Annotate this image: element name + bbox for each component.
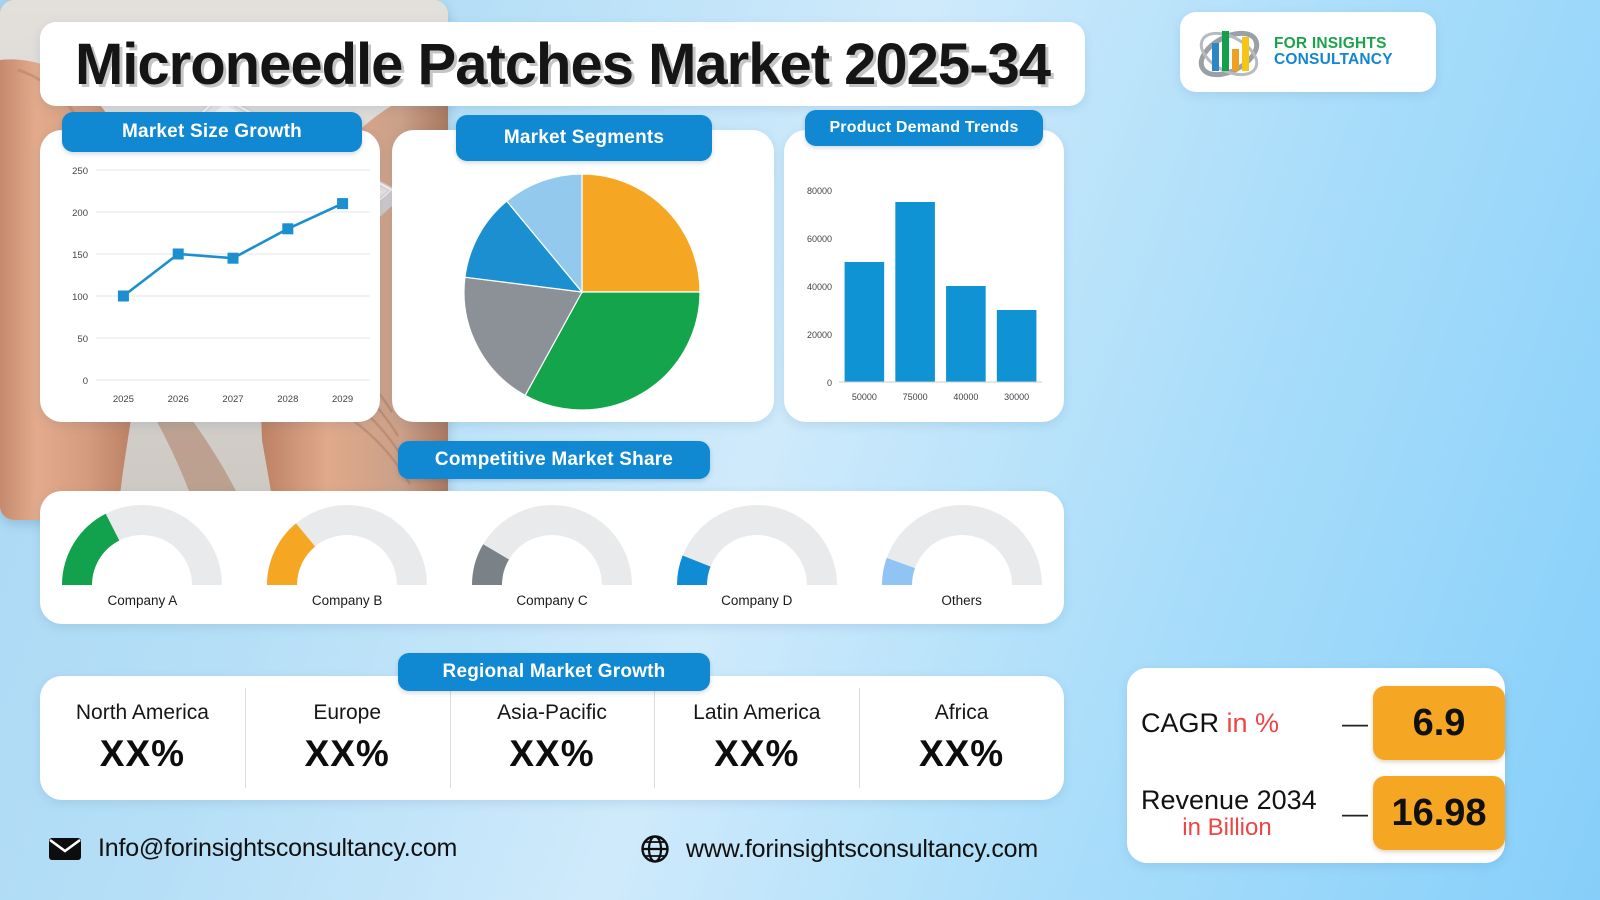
gauge-company-b: Company B [247, 501, 447, 608]
region-cell: Asia-PacificXX% [450, 676, 655, 800]
gauge-label: Company D [657, 593, 857, 608]
footer: Info@forinsightsconsultancy.com www.fori… [0, 826, 1100, 888]
gauge-arc [862, 501, 1062, 589]
competitive-market-share-title: Competitive Market Share [398, 441, 710, 479]
page-title: Microneedle Patches Market 2025-34 [75, 31, 1050, 98]
kpi-row-revenue: Revenue 2034 in Billion — 16.98 [1127, 772, 1505, 854]
bar-chart-bars [845, 202, 1037, 382]
line-chart-marker [282, 223, 293, 234]
region-cell: EuropeXX% [245, 676, 450, 800]
bar-chart-swoosh-logo-icon [1194, 23, 1264, 81]
line-chart-y-tick: 250 [72, 166, 88, 177]
line-chart-marker [228, 253, 239, 264]
revenue-label: Revenue 2034 [1141, 786, 1337, 814]
footer-email[interactable]: Info@forinsightsconsultancy.com [48, 834, 457, 863]
product-demand-trends-card: 020000400006000080000 500007500040000300… [784, 130, 1064, 422]
line-chart-x-tick: 2028 [277, 394, 298, 405]
bar-chart-bar [845, 262, 885, 382]
cagr-dash: — [1337, 708, 1373, 739]
globe-icon [640, 834, 670, 864]
revenue-label-group: Revenue 2034 in Billion [1127, 786, 1337, 840]
gauge-arc [42, 501, 242, 589]
gauge-arc [247, 501, 447, 589]
revenue-value: 16.98 [1373, 776, 1505, 850]
market-size-growth-title: Market Size Growth [62, 112, 362, 152]
line-chart: 050100150200250 20252026202720282029 [40, 130, 380, 422]
line-chart-y-tick: 100 [72, 292, 88, 303]
logo-line-2: CONSULTANCY [1274, 52, 1393, 68]
cagr-value: 6.9 [1373, 686, 1505, 760]
gauge-company-c: Company C [452, 501, 652, 608]
gauge-company-a: Company A [42, 501, 242, 608]
line-chart-markers [118, 198, 348, 301]
line-chart-marker [118, 291, 129, 302]
revenue-sublabel: in Billion [1141, 815, 1337, 840]
gauge-label: Company B [247, 593, 447, 608]
pie-chart [392, 130, 774, 422]
line-chart-x-tick: 2025 [113, 394, 134, 405]
bar-chart: 020000400006000080000 500007500040000300… [784, 130, 1064, 422]
line-chart-x-tick: 2026 [168, 394, 189, 405]
line-chart-x-tick-labels: 20252026202720282029 [113, 394, 353, 405]
gauge-others: Others [862, 501, 1062, 608]
region-name: Asia-Pacific [497, 701, 607, 725]
bar-chart-y-tick: 0 [827, 378, 832, 388]
cagr-label-accent: in % [1227, 708, 1280, 738]
gauge-arc [657, 501, 857, 589]
gauge-label: Others [862, 593, 1062, 608]
line-chart-y-tick-labels: 050100150200250 [72, 166, 88, 387]
bar-chart-x-tick: 50000 [852, 392, 877, 402]
region-name: Europe [313, 701, 381, 725]
footer-website-text: www.forinsightsconsultancy.com [686, 835, 1038, 864]
regional-market-growth-title: Regional Market Growth [398, 653, 710, 691]
market-segments-title: Market Segments [456, 115, 712, 161]
line-chart-y-tick: 200 [72, 208, 88, 219]
region-name: North America [76, 701, 209, 725]
gauge-company-d: Company D [657, 501, 857, 608]
bar-chart-y-tick: 80000 [807, 186, 832, 196]
bar-chart-bar [946, 286, 986, 382]
bar-chart-y-tick: 20000 [807, 330, 832, 340]
footer-email-text: Info@forinsightsconsultancy.com [98, 834, 457, 863]
region-value: XX% [714, 733, 799, 775]
logo-wordmark: FOR INSIGHTS CONSULTANCY [1274, 36, 1393, 69]
infographic-root: Microneedle Patches Market 2025-34 FOR I… [0, 0, 1600, 900]
kpi-card: CAGR in % — 6.9 Revenue 2034 in Billion … [1127, 668, 1505, 863]
revenue-dash: — [1337, 798, 1373, 829]
line-chart-x-tick: 2027 [222, 394, 243, 405]
region-value: XX% [509, 733, 594, 775]
line-chart-marker [173, 249, 184, 260]
market-size-growth-card: 050100150200250 20252026202720282029 [40, 130, 380, 422]
cagr-label-group: CAGR in % [1127, 709, 1337, 737]
region-cell: Latin AmericaXX% [654, 676, 859, 800]
kpi-row-cagr: CAGR in % — 6.9 [1127, 682, 1505, 764]
line-chart-series [123, 204, 342, 296]
logo-line-1: FOR INSIGHTS [1274, 36, 1393, 52]
region-value: XX% [100, 733, 185, 775]
bar-chart-y-tick: 60000 [807, 234, 832, 244]
line-chart-y-tick: 50 [77, 334, 88, 345]
line-chart-y-tick: 0 [83, 376, 88, 387]
company-logo-card: FOR INSIGHTS CONSULTANCY [1180, 12, 1436, 92]
region-cell: North AmericaXX% [40, 676, 245, 800]
line-chart-x-tick: 2029 [332, 394, 353, 405]
competitive-market-share-card: Company ACompany BCompany CCompany DOthe… [40, 491, 1064, 624]
line-chart-marker [337, 198, 348, 209]
bar-chart-x-tick: 75000 [903, 392, 928, 402]
region-name: Latin America [693, 701, 820, 725]
bar-chart-y-tick: 40000 [807, 282, 832, 292]
footer-website[interactable]: www.forinsightsconsultancy.com [640, 834, 1038, 864]
gauge-label: Company A [42, 593, 242, 608]
region-value: XX% [919, 733, 1004, 775]
bar-chart-x-tick: 30000 [1004, 392, 1029, 402]
region-value: XX% [305, 733, 390, 775]
market-segments-card [392, 130, 774, 422]
region-cell: AfricaXX% [859, 676, 1064, 800]
line-chart-gridlines [96, 170, 370, 380]
cagr-label: CAGR in % [1141, 709, 1337, 737]
regional-market-growth-card: North AmericaXX%EuropeXX%Asia-PacificXX%… [40, 676, 1064, 800]
gauge-arc [452, 501, 652, 589]
title-card: Microneedle Patches Market 2025-34 [40, 22, 1085, 106]
bar-chart-bar [997, 310, 1037, 382]
line-chart-y-tick: 150 [72, 250, 88, 261]
bar-chart-y-tick-labels: 020000400006000080000 [807, 186, 832, 388]
bar-chart-bar [895, 202, 935, 382]
region-name: Africa [935, 701, 989, 725]
envelope-icon [48, 836, 82, 862]
bar-chart-x-tick: 40000 [953, 392, 978, 402]
gauge-value-arc [62, 514, 119, 585]
product-demand-trends-title: Product Demand Trends [805, 110, 1043, 146]
gauge-label: Company C [452, 593, 652, 608]
pie-chart-slices [464, 174, 700, 410]
bar-chart-x-tick-labels: 50000750004000030000 [852, 392, 1029, 402]
pie-slice [582, 174, 700, 292]
